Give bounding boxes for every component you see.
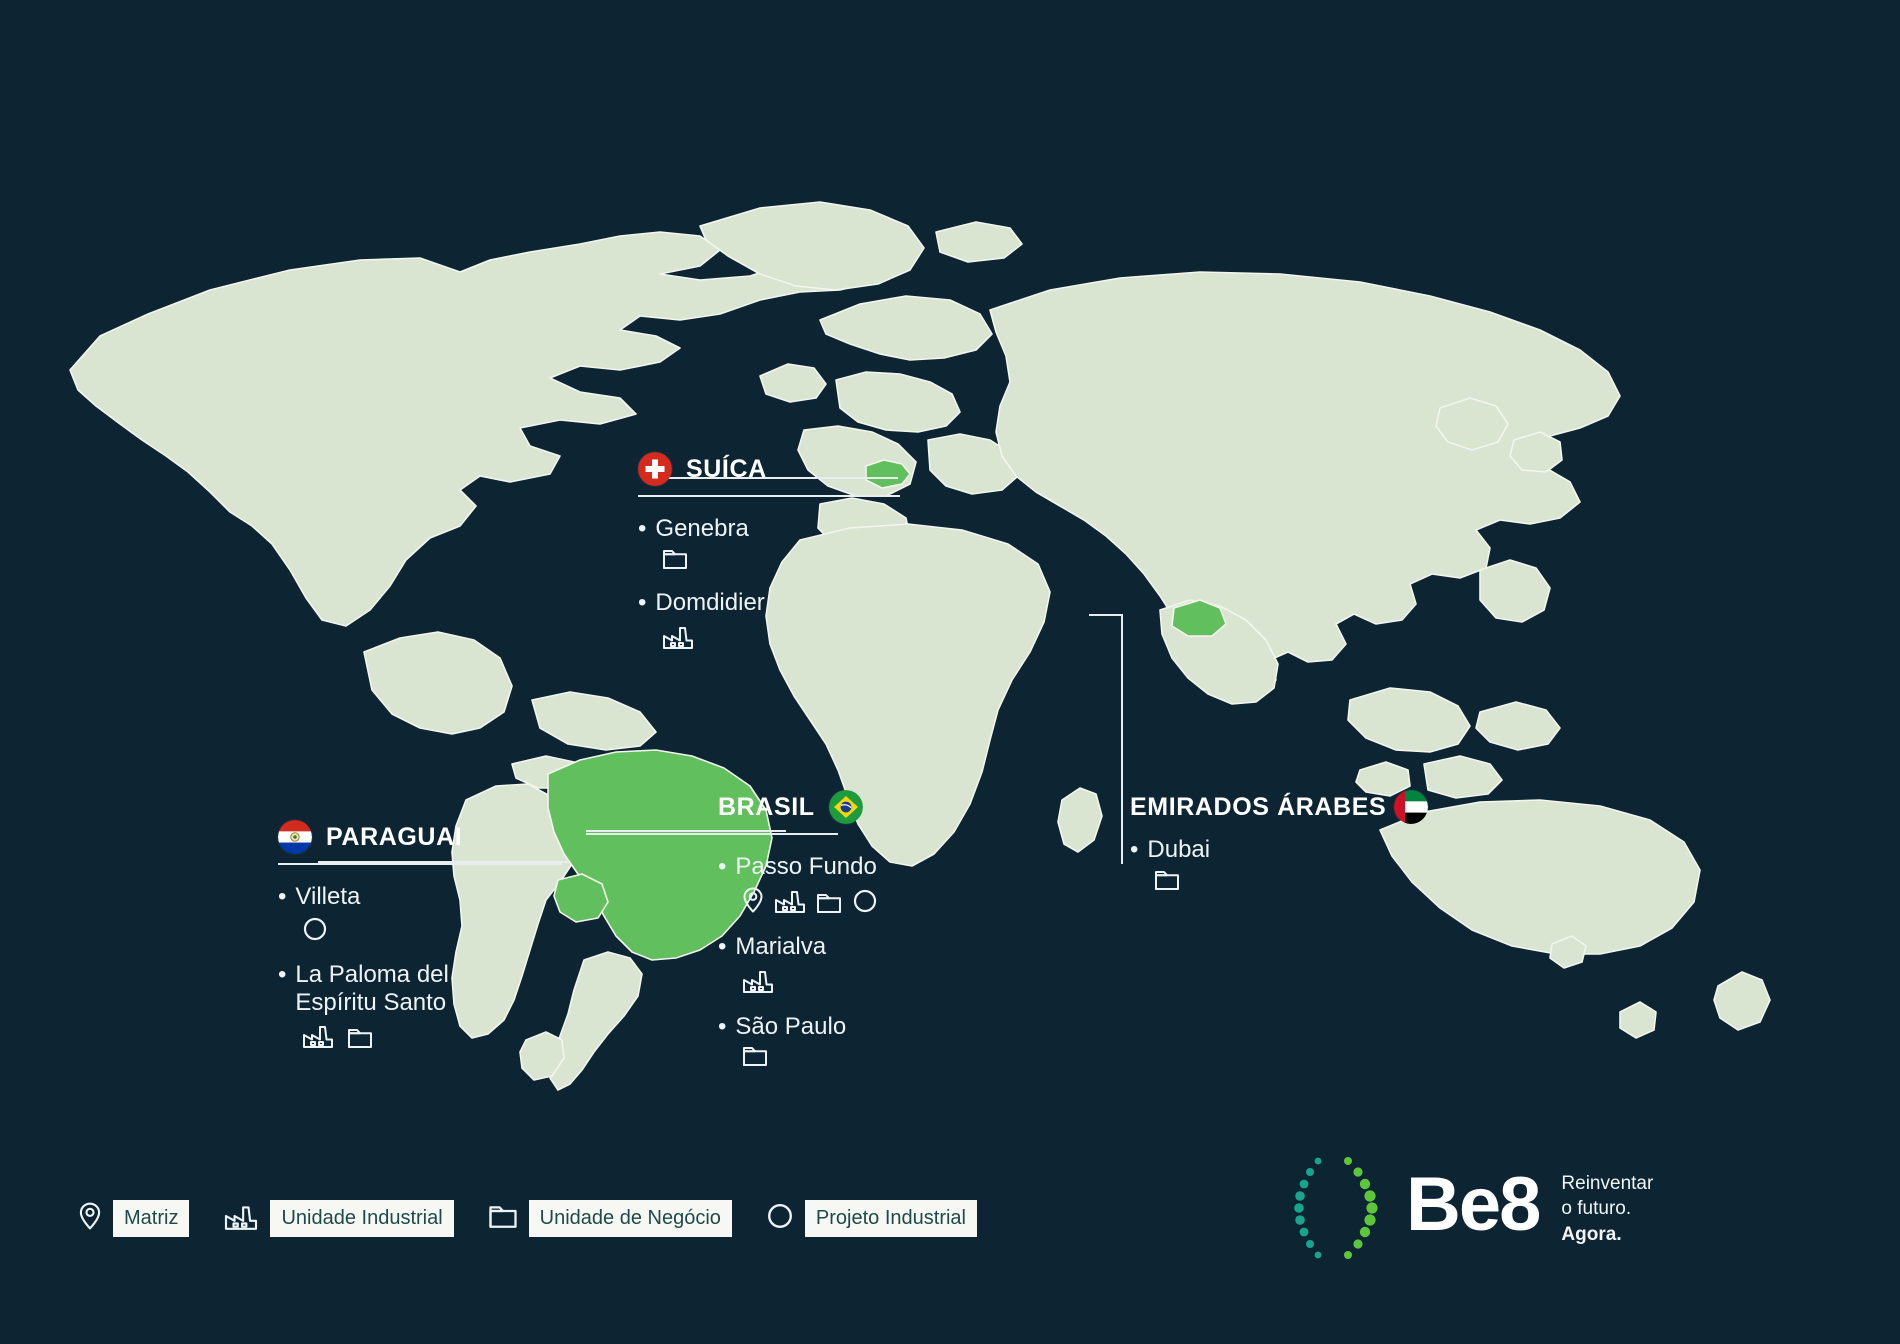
country-block-paraguai: PARAGUAI • Villeta • [278,820,568,1068]
industrial-unit-factory-icon [774,886,806,919]
business-unit-folder-icon [816,892,842,919]
industrial-project-circle-icon [852,888,878,919]
city-list-emirados: • Dubai [1130,836,1430,896]
bullet-icon: • [638,515,646,543]
industrial-unit-factory-icon [662,622,694,655]
city-icons [718,966,978,999]
city-name-row: • Genebra [638,515,908,543]
legend-item-matriz[interactable]: Matriz [78,1200,189,1237]
connector-emirados-vertical [1121,614,1123,864]
city-label: La Paloma del Espíritu Santo [295,961,475,1017]
industrial-unit-factory-icon [302,1021,334,1054]
city-label: Domdidier [655,589,764,617]
uae-flag [1394,790,1428,824]
be8-tagline: Reinventar o futuro. Agora. [1561,1171,1653,1247]
city-item-la-paloma[interactable]: • La Paloma del Espíritu Santo [278,961,568,1055]
city-item-genebra[interactable]: • Genebra [638,515,908,575]
city-item-marialva[interactable]: • Marialva [718,933,978,999]
bullet-icon: • [718,853,726,881]
city-icons [638,548,908,575]
country-block-brasil: BRASIL • Passo Fundo [718,790,978,1086]
legend: Matriz Unidade Industrial Unidade de Neg… [78,1200,977,1237]
tagline-line-2: o futuro. [1561,1198,1631,1219]
brazil-flag [829,790,863,824]
bullet-icon: • [278,961,286,989]
city-name-row: • La Paloma del Espíritu Santo [278,961,568,1017]
bullet-icon: • [718,1013,726,1041]
business-unit-folder-icon [488,1204,518,1234]
legend-label-projeto-industrial: Projeto Industrial [805,1200,977,1237]
connector-emirados-horizontal [1089,614,1121,616]
country-header-suica: SUÍCA [638,452,908,486]
legend-item-unidade-negocio[interactable]: Unidade de Negócio [488,1200,732,1237]
bullet-icon: • [638,589,646,617]
city-icons [278,916,568,947]
city-list-brasil: • Passo Fundo [718,853,978,1072]
business-unit-folder-icon [347,1027,373,1054]
country-rule-paraguai [278,863,562,865]
city-label: Genebra [655,515,748,543]
country-header-brasil: BRASIL [718,790,978,824]
country-name-emirados: EMIRADOS ÁRABES [1130,793,1386,822]
legend-item-unidade-industrial[interactable]: Unidade Industrial [223,1200,453,1237]
world-map-layer: .l { fill:#d9e4d1; stroke:#f2f6ee; strok… [0,0,1900,1344]
city-label: Passo Fundo [735,853,876,881]
bullet-icon: • [1130,836,1138,864]
city-name-row: • Villeta [278,883,568,911]
headquarters-pin-icon [78,1201,102,1236]
city-item-sao-paulo[interactable]: • São Paulo [718,1013,978,1073]
business-unit-folder-icon [662,548,688,575]
city-name-row: • Passo Fundo [718,853,978,881]
industrial-project-circle-icon [766,1202,794,1235]
landmass-asia [990,272,1620,704]
city-icons [1130,869,1430,896]
country-block-emirados: EMIRADOS ÁRABES • Dubai [1130,790,1430,910]
city-label: Dubai [1147,836,1210,864]
city-label: Marialva [735,933,826,961]
business-unit-folder-icon [742,1045,768,1072]
country-header-emirados: EMIRADOS ÁRABES [1130,790,1430,824]
city-name-row: • Domdidier [638,589,908,617]
legend-item-projeto-industrial[interactable]: Projeto Industrial [766,1200,977,1237]
country-name-brasil: BRASIL [718,793,815,822]
city-label: São Paulo [735,1013,846,1041]
city-item-passo-fundo[interactable]: • Passo Fundo [718,853,978,919]
headquarters-pin-icon [742,886,764,919]
city-name-row: • Marialva [718,933,978,961]
city-icons [718,886,978,919]
be8-wordmark: Be8 [1406,1167,1539,1243]
industrial-project-circle-icon [302,916,328,947]
country-rule-suica [638,495,900,497]
infographic-root: .l { fill:#d9e4d1; stroke:#f2f6ee; strok… [0,0,1900,1344]
country-name-paraguai: PARAGUAI [326,823,462,852]
city-list-paraguai: • Villeta • La Paloma del Espíritu Santo [278,883,568,1054]
tagline-line-3: Agora. [1561,1224,1621,1245]
city-icons [278,1021,568,1054]
legend-label-unidade-industrial: Unidade Industrial [270,1200,453,1237]
city-item-domdidier[interactable]: • Domdidier [638,589,908,655]
be8-sphere-logo-icon [1288,1148,1384,1268]
legend-label-unidade-negocio: Unidade de Negócio [529,1200,732,1237]
country-block-suica: SUÍCA • Genebra • [638,452,908,669]
city-list-suica: • Genebra • Domdidier [638,515,908,655]
bullet-icon: • [718,933,726,961]
city-item-villeta[interactable]: • Villeta [278,883,568,947]
bullet-icon: • [278,883,286,911]
switzerland-flag [638,452,672,486]
be8-logo-block: Be8 Reinventar o futuro. Agora. [1288,1148,1653,1268]
city-name-row: • Dubai [1130,836,1430,864]
city-name-row: • São Paulo [718,1013,978,1041]
industrial-unit-factory-icon [742,966,774,999]
city-icons [718,1045,978,1072]
industrial-unit-factory-icon [223,1201,259,1236]
business-unit-folder-icon [1154,869,1180,896]
tagline-line-1: Reinventar [1561,1173,1653,1194]
country-header-paraguai: PARAGUAI [278,820,568,854]
city-icons [638,622,908,655]
city-item-dubai[interactable]: • Dubai [1130,836,1430,896]
country-name-suica: SUÍCA [686,455,767,484]
paraguay-flag [278,820,312,854]
city-label: Villeta [295,883,360,911]
legend-label-matriz: Matriz [113,1200,189,1237]
country-rule-brasil [586,833,838,835]
